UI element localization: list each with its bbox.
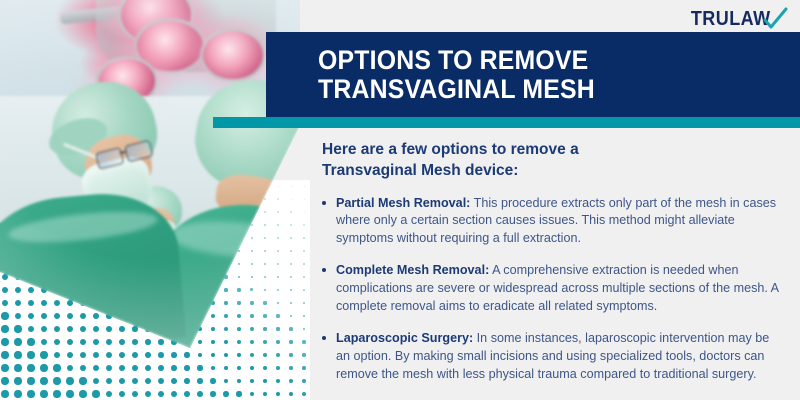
- halftone-dot: [132, 378, 138, 384]
- halftone-dot: [277, 276, 279, 278]
- halftone-dot: [251, 237, 253, 239]
- halftone-dot: [53, 364, 60, 371]
- halftone-dot: [223, 391, 228, 396]
- halftone-dot: [158, 352, 163, 357]
- halftone-dot: [145, 365, 151, 371]
- halftone-dot: [302, 392, 306, 396]
- halftone-dot: [80, 352, 87, 359]
- halftone-dot: [224, 353, 229, 358]
- halftone-dot: [93, 378, 100, 385]
- halftone-dot: [2, 300, 9, 307]
- halftone-dot: [106, 339, 112, 345]
- list-item-term: Partial Mesh Removal:: [336, 196, 470, 210]
- halftone-dot: [40, 390, 47, 397]
- halftone-dot: [289, 353, 293, 357]
- halftone-dot: [277, 302, 280, 305]
- halftone-dot: [1, 351, 8, 358]
- halftone-dot: [92, 390, 99, 397]
- halftone-dot: [276, 353, 280, 357]
- halftone-dot: [264, 263, 266, 265]
- trulaw-logo[interactable]: TRULAW: [682, 6, 788, 32]
- halftone-dot: [132, 391, 139, 398]
- halftone-dot: [277, 198, 278, 199]
- halftone-dot: [303, 302, 305, 304]
- halftone-dot: [40, 351, 47, 358]
- halftone-dot: [67, 365, 74, 372]
- halftone-dot: [67, 300, 73, 306]
- halftone-dot: [250, 314, 253, 317]
- halftone-dot: [132, 326, 137, 331]
- teal-accent-bar: [213, 117, 800, 128]
- halftone-dot: [54, 326, 61, 333]
- halftone-dot: [54, 339, 61, 346]
- halftone-dot: [290, 250, 292, 252]
- options-list: Partial Mesh Removal: This procedure ext…: [310, 195, 780, 384]
- halftone-dot: [15, 313, 22, 320]
- title-banner: OPTIONS TO REMOVE TRANSVAGINAL MESH: [266, 32, 800, 117]
- halftone-dot: [303, 276, 305, 278]
- halftone-dot: [290, 263, 292, 265]
- halftone-dot: [277, 237, 279, 239]
- halftone-dot: [303, 224, 304, 225]
- halftone-dot: [40, 377, 47, 384]
- halftone-dot: [303, 250, 305, 252]
- halftone-dot: [237, 379, 242, 384]
- halftone-dot: [289, 392, 293, 396]
- halftone-dot: [14, 390, 21, 397]
- halftone-dot: [224, 340, 228, 344]
- page-title: OPTIONS TO REMOVE TRANSVAGINAL MESH: [318, 45, 619, 103]
- halftone-dot: [290, 237, 292, 239]
- halftone-dot: [302, 353, 305, 356]
- halftone-dot: [224, 301, 228, 305]
- halftone-dot: [289, 340, 292, 343]
- halftone-dot: [277, 250, 279, 252]
- halftone-dot: [210, 378, 215, 383]
- halftone-dot: [93, 352, 99, 358]
- halftone-dot: [184, 352, 189, 357]
- halftone-dot: [171, 378, 177, 384]
- halftone-dot: [106, 326, 112, 332]
- halftone-dot: [145, 391, 151, 397]
- halftone-dot: [291, 186, 292, 187]
- halftone-dot: [237, 314, 241, 318]
- halftone-dot: [278, 186, 279, 187]
- halftone-dot: [264, 276, 267, 279]
- halftone-dot: [106, 352, 112, 358]
- halftone-dot: [14, 325, 21, 332]
- halftone-dot: [250, 379, 255, 384]
- halftone-dot: [263, 353, 267, 357]
- halftone-dot: [119, 352, 125, 358]
- halftone-dot: [79, 390, 86, 397]
- halftone-dot: [291, 199, 292, 200]
- list-item-term: Laparoscopic Surgery:: [336, 331, 473, 345]
- halftone-dot: [119, 365, 125, 371]
- halftone-dot: [93, 326, 99, 332]
- halftone-dot: [264, 237, 266, 239]
- halftone-dot: [211, 340, 215, 344]
- halftone-dot: [277, 224, 279, 226]
- halftone-dot: [93, 339, 99, 345]
- halftone-dot: [41, 300, 47, 306]
- halftone-dot: [132, 339, 138, 345]
- halftone-dot: [276, 327, 279, 330]
- halftone-dot: [250, 301, 253, 304]
- halftone-dot: [106, 365, 112, 371]
- bullet-icon: [322, 336, 326, 340]
- halftone-dot: [1, 312, 8, 319]
- halftone-dot: [41, 339, 48, 346]
- lede-line-2: Transvaginal Mesh device:: [322, 162, 518, 179]
- halftone-dot: [1, 325, 8, 332]
- halftone-dot: [289, 327, 292, 330]
- halftone-dot: [198, 353, 203, 358]
- halftone-dot: [303, 263, 305, 265]
- halftone-dot: [27, 338, 34, 345]
- halftone-dot: [264, 224, 266, 226]
- halftone-dot: [290, 315, 293, 318]
- halftone-dot: [53, 390, 60, 397]
- halftone-dot: [302, 340, 305, 343]
- halftone-dot: [145, 339, 150, 344]
- halftone-dot: [303, 237, 304, 238]
- halftone-dot: [106, 391, 113, 398]
- halftone-dot: [276, 340, 280, 344]
- halftone-dot: [237, 340, 241, 344]
- logo-wordmark: TRULAW: [691, 8, 771, 31]
- halftone-dot: [28, 287, 34, 293]
- halftone-dot: [237, 327, 241, 331]
- halftone-dot: [27, 377, 34, 384]
- halftone-dot: [119, 339, 125, 345]
- halftone-dot: [2, 287, 9, 294]
- halftone-dot: [264, 211, 265, 212]
- halftone-dot: [53, 377, 60, 384]
- halftone-dot: [290, 211, 291, 212]
- halftone-dot: [238, 276, 241, 279]
- halftone-dot: [14, 364, 21, 371]
- halftone-dot: [263, 327, 267, 331]
- halftone-dot: [54, 300, 60, 306]
- halftone-dot: [304, 199, 305, 200]
- halftone-dot: [66, 377, 73, 384]
- halftone-dot: [237, 288, 240, 291]
- halftone-dot: [119, 326, 125, 332]
- halftone-dot: [184, 391, 190, 397]
- halftone-dot: [210, 391, 215, 396]
- halftone-dot: [41, 326, 48, 333]
- halftone-dot: [15, 287, 21, 293]
- halftone-dot: [14, 351, 21, 358]
- halftone-dot: [264, 250, 266, 252]
- halftone-dot: [237, 301, 240, 304]
- halftone-dot: [211, 314, 215, 318]
- halftone-dot: [263, 392, 268, 397]
- halftone-dot: [145, 378, 151, 384]
- halftone-dot: [106, 378, 113, 385]
- halftone-dot: [237, 366, 242, 371]
- surgical-lamp-head: [200, 28, 266, 82]
- halftone-dot: [15, 300, 22, 307]
- halftone-dot: [93, 313, 99, 319]
- list-item-term: Complete Mesh Removal:: [336, 263, 489, 277]
- halftone-dot: [303, 328, 306, 331]
- halftone-dot: [1, 390, 8, 397]
- content-column: Here are a few options to remove a Trans…: [310, 140, 780, 383]
- halftone-dot: [119, 378, 125, 384]
- halftone-dot: [27, 364, 34, 371]
- halftone-dot: [250, 327, 254, 331]
- halftone-dot: [197, 378, 202, 383]
- halftone-dot: [1, 364, 8, 371]
- halftone-dot: [263, 301, 266, 304]
- halftone-dot: [289, 366, 293, 370]
- halftone-dot: [277, 289, 280, 292]
- halftone-dot: [158, 365, 164, 371]
- halftone-dot: [290, 276, 292, 278]
- halftone-dot: [276, 366, 280, 370]
- halftone-dot: [250, 340, 254, 344]
- halftone-dot: [132, 352, 138, 358]
- halftone-dot: [251, 276, 254, 279]
- halftone-dot: [290, 289, 292, 291]
- halftone-dot: [276, 392, 280, 396]
- halftone-dot: [158, 378, 164, 384]
- halftone-dot: [250, 353, 254, 357]
- halftone-dot: [276, 379, 280, 383]
- halftone-dot: [277, 211, 278, 212]
- halftone-dot: [224, 314, 228, 318]
- halftone-dot: [303, 315, 306, 318]
- halftone-dot: [67, 352, 74, 359]
- halftone-dot: [251, 263, 254, 266]
- halftone-dot: [14, 377, 21, 384]
- halftone-dot: [80, 365, 87, 372]
- halftone-dot: [304, 186, 305, 187]
- halftone-dot: [28, 300, 34, 306]
- halftone-dot: [67, 339, 74, 346]
- halftone-dot: [41, 313, 47, 319]
- halftone-dot: [80, 326, 86, 332]
- page-title-line-2: TRANSVAGINAL MESH: [318, 75, 595, 104]
- halftone-dot: [27, 351, 34, 358]
- halftone-dot: [197, 391, 203, 397]
- halftone-dot: [304, 212, 305, 213]
- photo-collage: [0, 0, 310, 400]
- halftone-dot: [79, 377, 86, 384]
- lede-heading: Here are a few options to remove a Trans…: [322, 140, 780, 182]
- halftone-dot: [67, 313, 73, 319]
- halftone-dot: [302, 379, 306, 383]
- checkmark-icon: [762, 6, 788, 32]
- halftone-dot: [184, 378, 190, 384]
- halftone-dot: [80, 339, 86, 345]
- halftone-dot: [211, 327, 215, 331]
- halftone-dot: [198, 340, 203, 345]
- halftone-dot: [119, 391, 126, 398]
- halftone-dot: [289, 379, 293, 383]
- halftone-dot: [171, 352, 176, 357]
- halftone-dot: [237, 353, 241, 357]
- halftone-dot: [224, 366, 229, 371]
- halftone-dot: [67, 326, 73, 332]
- page-title-line-1: OPTIONS TO REMOVE: [318, 45, 595, 74]
- halftone-dot: [263, 340, 267, 344]
- halftone-dot: [145, 352, 151, 358]
- halftone-dot: [224, 327, 228, 331]
- halftone-dot: [80, 313, 86, 319]
- halftone-dot: [132, 365, 138, 371]
- halftone-dot: [264, 289, 267, 292]
- bullet-icon: [322, 201, 326, 205]
- halftone-dot: [54, 313, 60, 319]
- halftone-dot: [250, 288, 253, 291]
- list-item: Laparoscopic Surgery: In some instances,…: [336, 330, 780, 384]
- bullet-icon: [322, 268, 326, 272]
- list-item: Complete Mesh Removal: A comprehensive e…: [336, 262, 780, 316]
- halftone-dot: [158, 391, 164, 397]
- halftone-dot: [197, 365, 202, 370]
- halftone-dot: [66, 390, 73, 397]
- halftone-dot: [290, 224, 291, 225]
- halftone-dot: [211, 366, 216, 371]
- halftone-dot: [290, 302, 293, 305]
- halftone-dot: [28, 313, 35, 320]
- halftone-dot: [54, 352, 61, 359]
- halftone-dot: [264, 198, 265, 199]
- list-item: Partial Mesh Removal: This procedure ext…: [336, 195, 780, 249]
- halftone-dot: [224, 288, 227, 291]
- halftone-dot: [250, 366, 254, 370]
- halftone-dot: [211, 353, 216, 358]
- halftone-dot: [251, 250, 253, 252]
- infographic-canvas: OPTIONS TO REMOVE TRANSVAGINAL MESH TRUL…: [0, 0, 800, 400]
- halftone-dot: [1, 377, 8, 384]
- halftone-dot: [250, 392, 255, 397]
- halftone-dot: [236, 391, 241, 396]
- halftone-dot: [40, 364, 47, 371]
- halftone-dot: [1, 338, 8, 345]
- halftone-dot: [158, 339, 163, 344]
- halftone-dot: [251, 224, 253, 226]
- halftone-dot: [263, 366, 267, 370]
- halftone-dot: [302, 366, 306, 370]
- halftone-dot: [263, 314, 266, 317]
- halftone-dot: [184, 365, 189, 370]
- halftone-dot: [14, 338, 21, 345]
- halftone-dot: [238, 263, 241, 266]
- halftone-dot: [28, 326, 35, 333]
- halftone-dot: [277, 263, 279, 265]
- lede-line-1: Here are a few options to remove a: [322, 141, 579, 158]
- halftone-dot: [303, 289, 305, 291]
- halftone-dot: [224, 379, 229, 384]
- halftone-dot: [171, 391, 177, 397]
- halftone-dot: [27, 390, 34, 397]
- halftone-dot: [263, 379, 267, 383]
- halftone-dot: [276, 314, 279, 317]
- halftone-dot: [171, 365, 176, 370]
- halftone-dot: [93, 365, 100, 372]
